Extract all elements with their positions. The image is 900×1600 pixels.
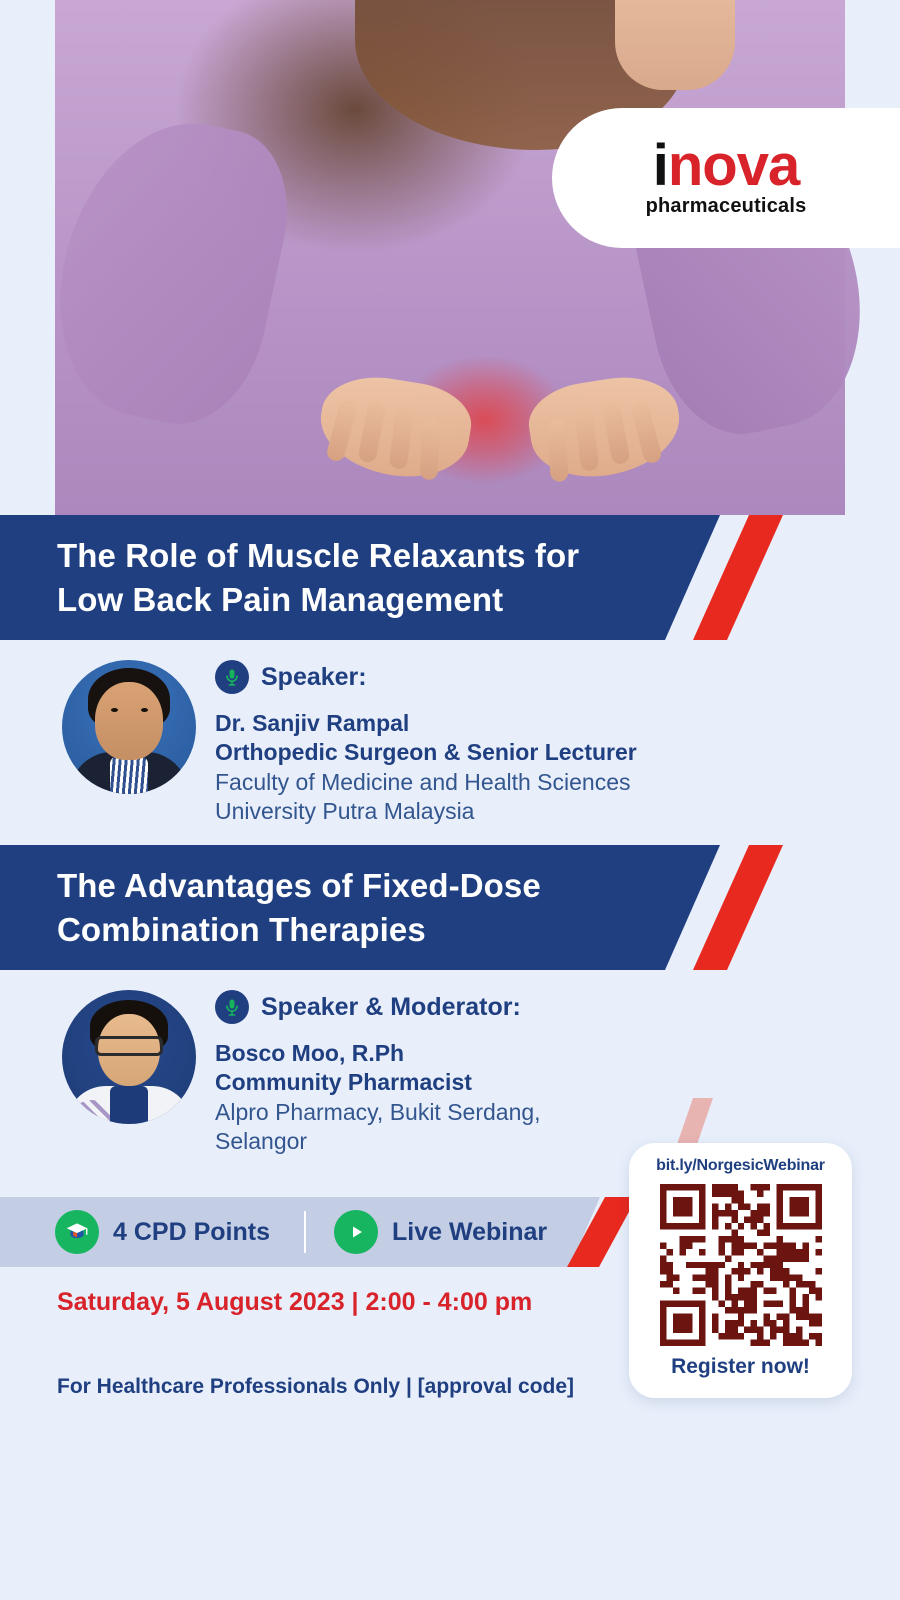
session-1-banner: The Role of Muscle Relaxants for Low Bac… <box>0 515 900 640</box>
inova-logo: inova pharmaceuticals <box>552 108 900 248</box>
hand-left <box>313 369 476 486</box>
play-icon <box>334 1210 378 1254</box>
patient-back-pain-photo <box>55 0 845 515</box>
speaker-2-org-line2: Selangor <box>215 1127 541 1156</box>
speaker-2-avatar <box>62 990 196 1124</box>
session-2-banner-shape: The Advantages of Fixed-Dose Combination… <box>0 845 720 970</box>
speaker-2-block: Speaker & Moderator: Bosco Moo, R.Ph Com… <box>0 982 900 1162</box>
speaker-1-details: Dr. Sanjiv Rampal Orthopedic Surgeon & S… <box>215 709 637 827</box>
event-date-time: Saturday, 5 August 2023 | 2:00 - 4:00 pm <box>57 1288 532 1317</box>
cpd-points-label: 4 CPD Points <box>113 1218 270 1247</box>
speaker-2-role-header: Speaker & Moderator: <box>215 990 521 1024</box>
graduation-cap-icon <box>55 1210 99 1254</box>
hand-right <box>523 369 686 486</box>
logo-text-nova: nova <box>668 133 799 198</box>
badges-bar-shape: 4 CPD Points Live Webinar <box>0 1197 600 1267</box>
speaker-1-title: Orthopedic Surgeon & Senior Lecturer <box>215 738 637 767</box>
speaker-1-block: Speaker: Dr. Sanjiv Rampal Orthopedic Su… <box>0 652 900 832</box>
speaker-2-role-label: Speaker & Moderator: <box>261 993 521 1022</box>
cpd-points-badge: 4 CPD Points <box>0 1210 270 1254</box>
speaker-1-role-label: Speaker: <box>261 663 367 692</box>
registration-url[interactable]: bit.ly/NorgesicWebinar <box>656 1157 825 1175</box>
speaker-1-name: Dr. Sanjiv Rampal <box>215 709 637 738</box>
session-1-title: The Role of Muscle Relaxants for Low Bac… <box>0 534 579 621</box>
badges-divider <box>304 1211 306 1253</box>
qr-code-image[interactable] <box>660 1184 822 1346</box>
hero-section: inova pharmaceuticals <box>0 0 900 515</box>
microphone-icon <box>215 660 249 694</box>
register-now-label[interactable]: Register now! <box>671 1355 810 1379</box>
speaker-2-details: Bosco Moo, R.Ph Community Pharmacist Alp… <box>215 1039 541 1157</box>
sleeve-left <box>36 101 304 438</box>
session-1-title-line1: The Role of Muscle Relaxants for <box>57 534 579 578</box>
session-2-title-line2: Combination Therapies <box>57 908 541 952</box>
speaker-1-org-line1: Faculty of Medicine and Health Sciences <box>215 768 637 797</box>
microphone-icon <box>215 990 249 1024</box>
event-disclaimer: For Healthcare Professionals Only | [app… <box>57 1375 574 1399</box>
speaker-2-title: Community Pharmacist <box>215 1068 541 1097</box>
neck <box>615 0 735 90</box>
session-2-title-line1: The Advantages of Fixed-Dose <box>57 864 541 908</box>
logo-subtitle: pharmaceuticals <box>646 195 807 218</box>
session-1-title-line2: Low Back Pain Management <box>57 578 579 622</box>
speaker-1-org-line2: University Putra Malaysia <box>215 797 637 826</box>
logo-wordmark: inova <box>653 138 800 193</box>
live-webinar-label: Live Webinar <box>392 1218 547 1247</box>
session-1-banner-shape: The Role of Muscle Relaxants for Low Bac… <box>0 515 720 640</box>
speaker-1-avatar <box>62 660 196 794</box>
live-webinar-badge: Live Webinar <box>334 1210 547 1254</box>
hair-strand <box>285 0 555 275</box>
session-2-banner: The Advantages of Fixed-Dose Combination… <box>0 845 900 970</box>
speaker-2-org-line1: Alpro Pharmacy, Bukit Serdang, <box>215 1098 541 1127</box>
session-2-title: The Advantages of Fixed-Dose Combination… <box>0 864 541 951</box>
logo-letter-i: i <box>653 133 668 198</box>
speaker-2-name: Bosco Moo, R.Ph <box>215 1039 541 1068</box>
speaker-1-role-header: Speaker: <box>215 660 367 694</box>
registration-card[interactable]: bit.ly/NorgesicWebinar Register now! <box>629 1143 852 1398</box>
